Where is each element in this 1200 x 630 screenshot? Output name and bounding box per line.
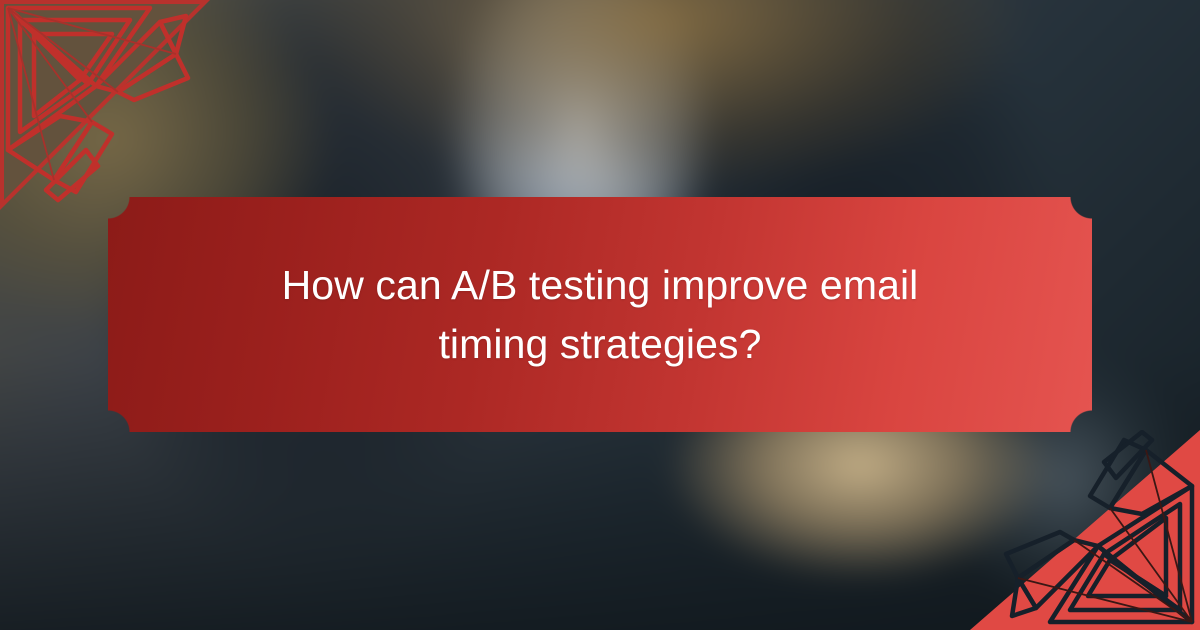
corner-ornament-top-left [0,0,210,210]
page-title: How can A/B testing improve email timing… [250,256,950,372]
social-card: How can A/B testing improve email timing… [0,0,1200,630]
corner-ornament-bottom-right [970,430,1200,630]
headline-banner: How can A/B testing improve email timing… [108,197,1092,432]
